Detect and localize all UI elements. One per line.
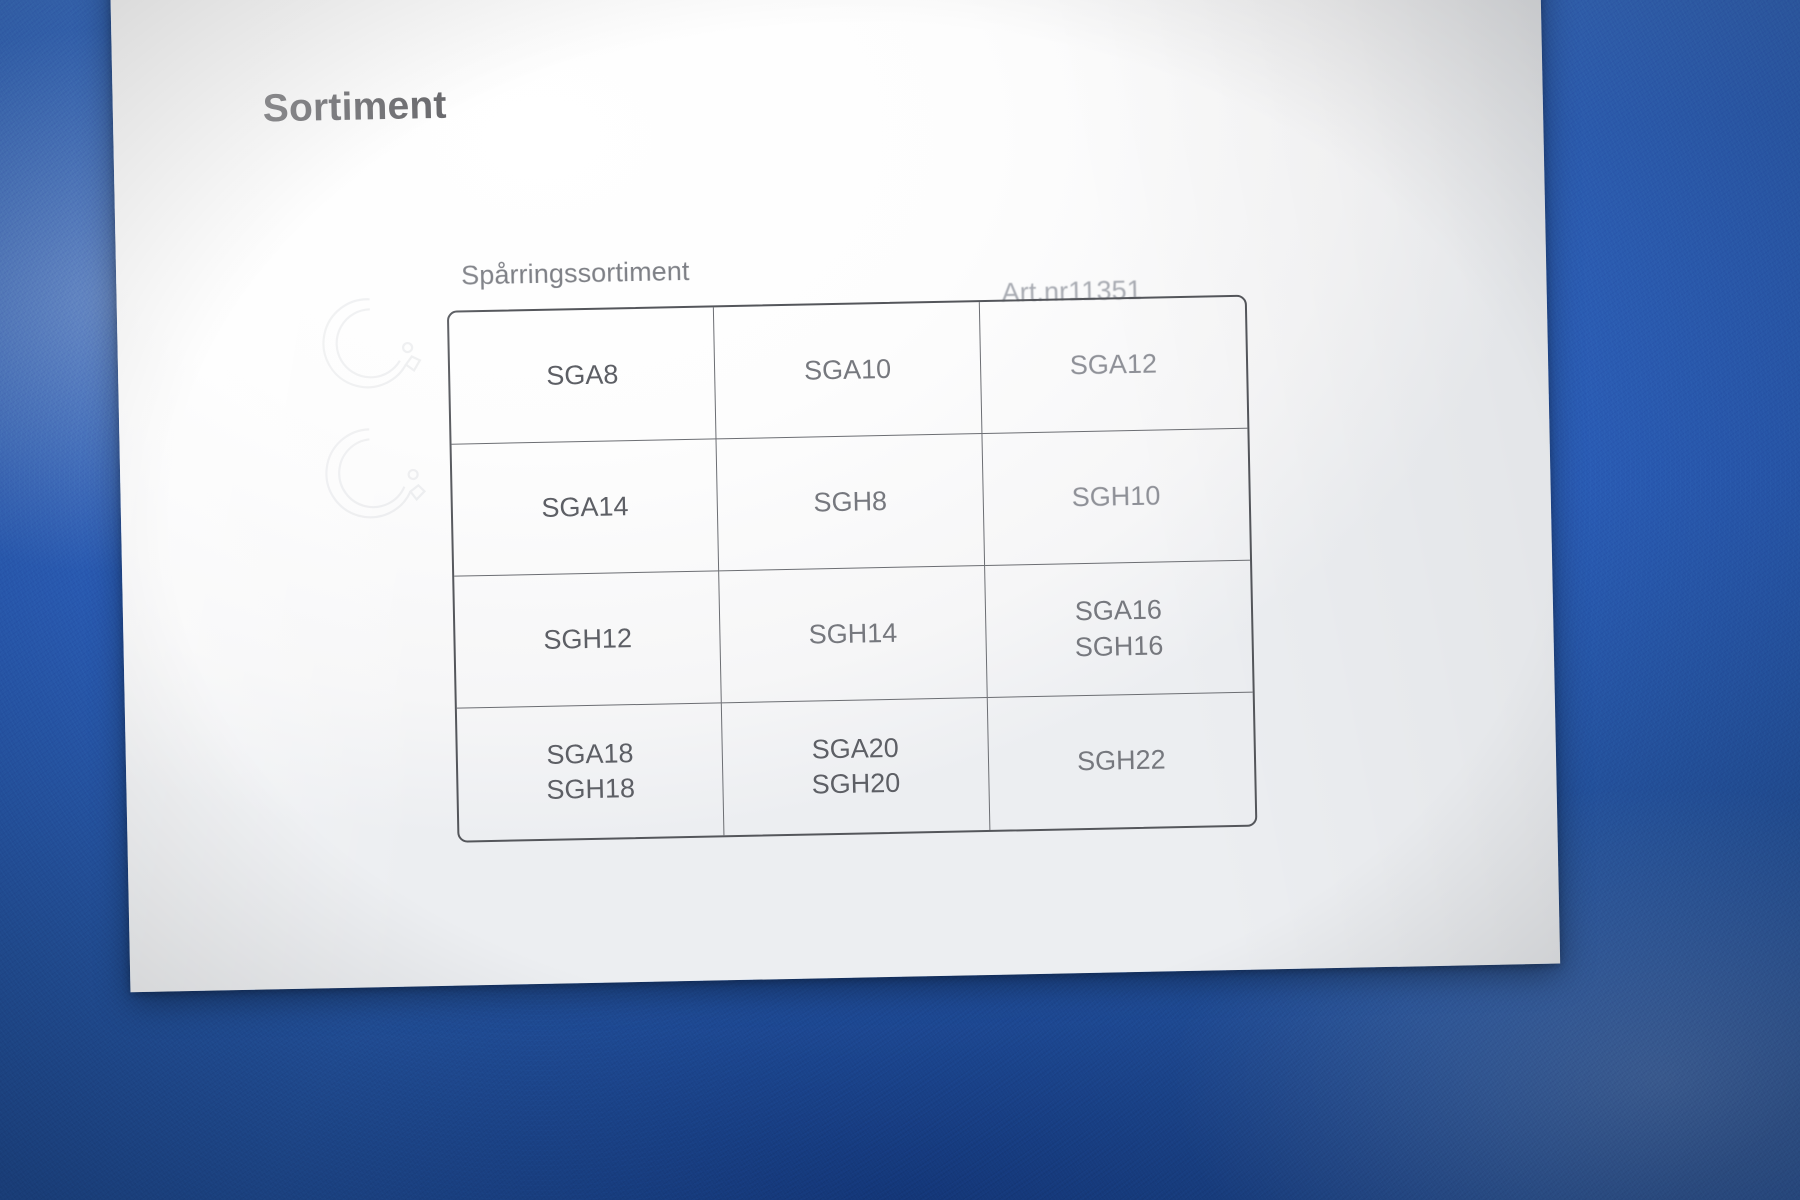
cell-line: SGA8 <box>546 357 619 394</box>
cell-line: SGH18 <box>546 771 635 808</box>
table-cell: SGH14 <box>719 566 987 703</box>
table-cell: SGA12 <box>979 297 1247 434</box>
table-cell: SGH12 <box>454 571 722 708</box>
retaining-ring-external-icon <box>306 286 441 549</box>
paper-content: Sortiment Spårringssortiment Art.nr1 <box>110 0 1560 992</box>
cell-line: SGA18 <box>545 736 634 773</box>
cell-line: SGA20 <box>811 731 900 768</box>
cell-line: SGH22 <box>1077 743 1166 780</box>
watermark-ring-drawings <box>306 286 441 549</box>
table-cell: SGA20 SGH20 <box>722 698 990 835</box>
table-cell: SGA16 SGH16 <box>985 561 1253 698</box>
table-cell: SGA14 <box>452 439 720 576</box>
cell-line: SGH20 <box>811 766 900 803</box>
cell-line: SGA12 <box>1070 346 1158 383</box>
cell-line: SGH10 <box>1071 478 1160 515</box>
table-cell: SGH22 <box>987 693 1255 830</box>
photo-scene: Sortiment Spårringssortiment Art.nr1 <box>0 0 1800 1200</box>
table-cell: SGA10 <box>714 302 982 439</box>
table-cell: SGH8 <box>717 434 985 571</box>
cell-line: SGH14 <box>808 616 897 653</box>
table-cell: SGH10 <box>982 429 1250 566</box>
retaining-ring-internal-icon <box>326 428 425 518</box>
cell-line: SGA14 <box>541 489 629 526</box>
cell-line: SGH16 <box>1074 628 1163 665</box>
table-cell: SGA8 <box>449 307 717 444</box>
table-caption-left: Spårringssortiment <box>461 256 690 292</box>
assortment-table: SGA8 SGA10 SGA12 SGA14 SGH8 SGH10 <box>447 295 1258 843</box>
cell-line: SGH12 <box>543 621 632 658</box>
cell-line: SGA10 <box>804 352 892 389</box>
page-title: Sortiment <box>262 84 447 132</box>
cell-line: SGH8 <box>813 484 887 521</box>
table-cell: SGA18 SGH18 <box>457 703 725 840</box>
cell-line: SGA16 <box>1074 593 1163 630</box>
paper-sheet: Sortiment Spårringssortiment Art.nr1 <box>110 0 1560 992</box>
